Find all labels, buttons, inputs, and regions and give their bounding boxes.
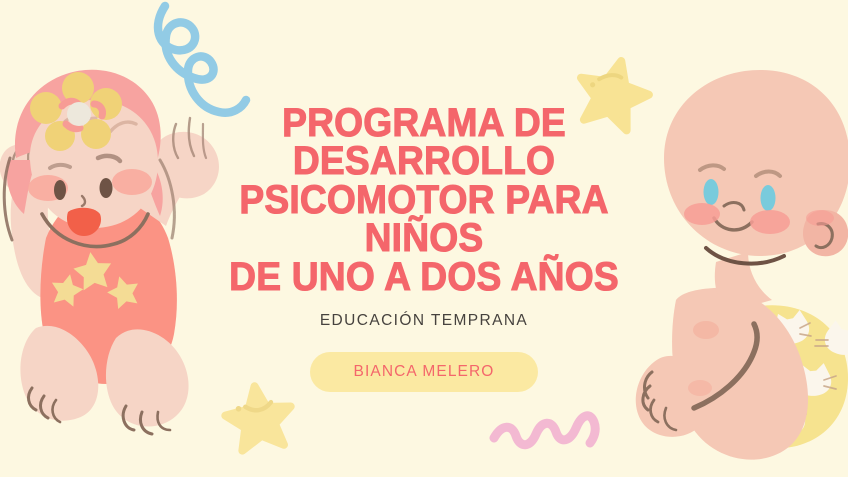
blue-curly-squiggle-icon <box>158 6 246 113</box>
presentation-slide: PROGRAMA DE DESARROLLO PSICOMOTOR PARA N… <box>0 0 848 477</box>
left-baby-illustration <box>0 70 219 434</box>
slide-text-block: PROGRAMA DE DESARROLLO PSICOMOTOR PARA N… <box>212 104 636 392</box>
author-badge[interactable]: BIANCA MELERO <box>310 352 539 392</box>
page-title: PROGRAMA DE DESARROLLO PSICOMOTOR PARA N… <box>227 104 621 296</box>
flower-headband <box>30 72 122 151</box>
right-baby-illustration <box>636 70 848 460</box>
slide-subtitle: EDUCACIÓN TEMPRANA <box>212 312 636 330</box>
pink-zigzag-squiggle-icon <box>494 416 595 445</box>
yellow-star-bottom-left-icon <box>222 382 296 453</box>
cat-faces <box>769 309 848 437</box>
